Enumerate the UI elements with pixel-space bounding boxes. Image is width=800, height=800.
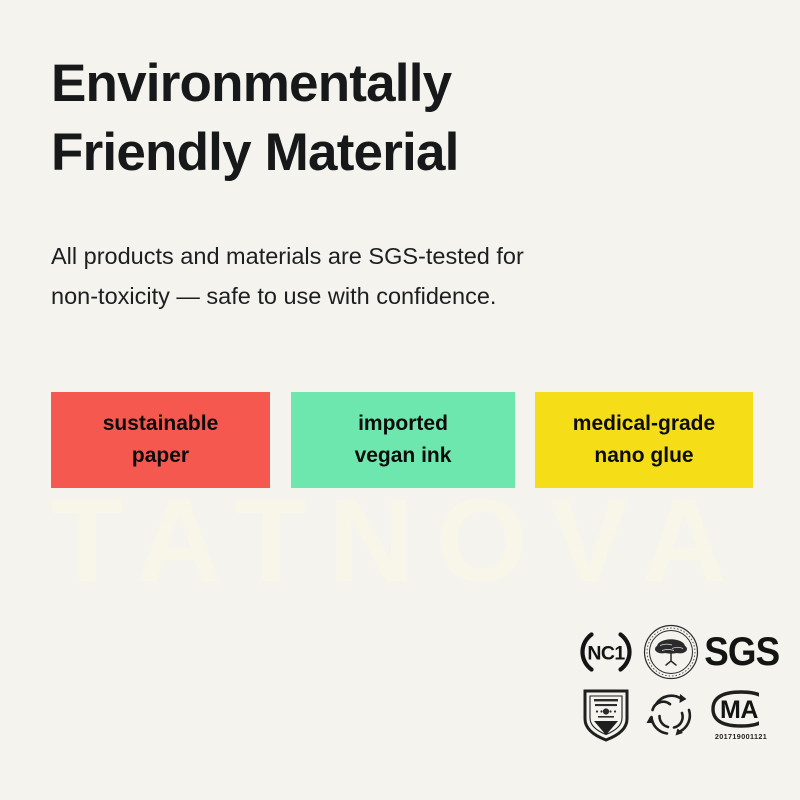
description-line-2: non-toxicity — safe to use with confiden… [51, 276, 651, 316]
svg-text:NC1: NC1 [587, 643, 625, 665]
material-badge-label-line-2: nano glue [594, 440, 693, 472]
brand-watermark: TATNOVA [0, 482, 800, 600]
shield-certification-icon [578, 686, 634, 744]
material-badge-group: sustainable paper imported vegan ink med… [51, 392, 753, 488]
recycling-certification-icon [640, 686, 700, 744]
poster-canvas: TATNOVA Environmentally Friendly Materia… [0, 0, 800, 800]
material-badge-medical-grade-nano-glue[interactable]: medical-grade nano glue [535, 392, 753, 488]
material-badge-imported-vegan-ink[interactable]: imported vegan ink [291, 392, 515, 488]
cma-certification-icon: MA 201719001121 [702, 684, 780, 744]
material-badge-label-line-1: sustainable [103, 408, 219, 440]
page-title-line-2: Friendly Material [51, 119, 671, 188]
certification-logo-group: NC1 [574, 622, 780, 746]
nc1-certification-icon: NC1 [576, 624, 636, 680]
svg-text:MA: MA [720, 696, 758, 724]
tree-seal-certification-icon [640, 622, 702, 682]
sgs-certification-label: SGS [705, 632, 780, 672]
cma-certification-number: 201719001121 [715, 732, 767, 741]
material-badge-label-line-2: paper [132, 440, 189, 472]
sgs-certification-icon: SGS [704, 628, 780, 676]
description-line-1: All products and materials are SGS-teste… [51, 236, 651, 276]
material-badge-sustainable-paper[interactable]: sustainable paper [51, 392, 270, 488]
page-title-line-1: Environmentally [51, 50, 671, 119]
material-badge-label-line-1: medical-grade [573, 408, 715, 440]
page-title: Environmentally Friendly Material [51, 50, 671, 188]
material-badge-label-line-2: vegan ink [355, 440, 452, 472]
description-text: All products and materials are SGS-teste… [51, 236, 651, 317]
material-badge-label-line-1: imported [358, 408, 448, 440]
